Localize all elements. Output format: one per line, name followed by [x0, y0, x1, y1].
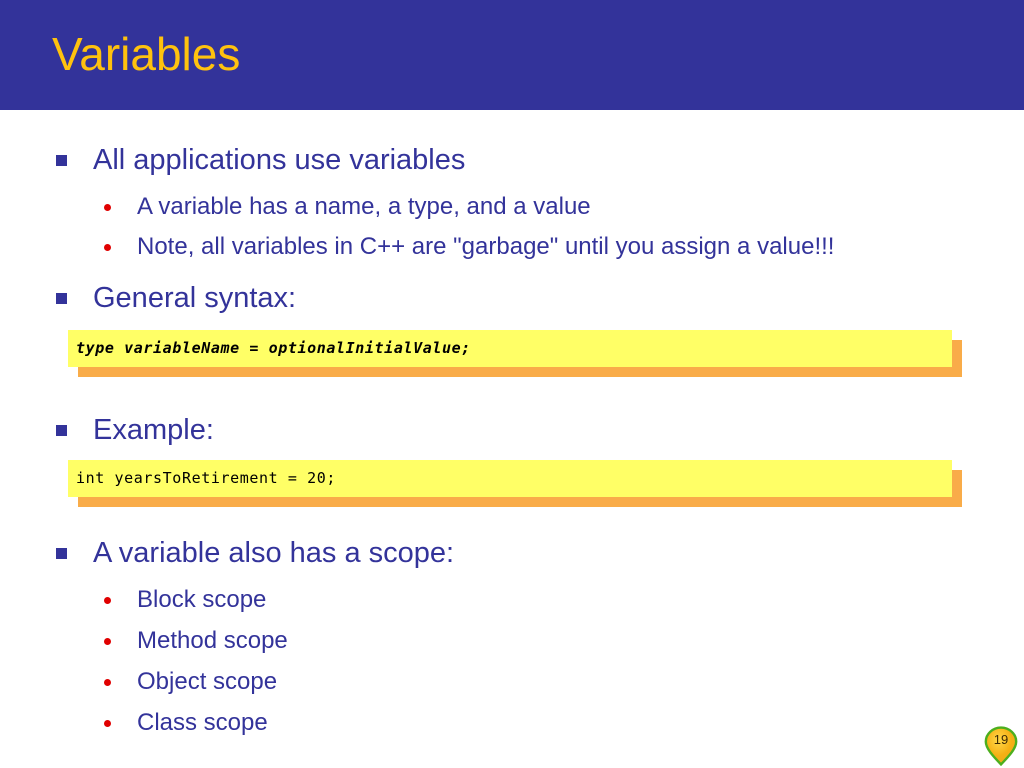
round-bullet-icon [104, 720, 111, 727]
bullet-label: A variable has a name, a type, and a val… [137, 192, 591, 222]
code-box-surface: type variableName = optionalInitialValue… [68, 330, 952, 367]
code-text: type variableName = optionalInitialValue… [76, 338, 471, 358]
bullet-label: Class scope [137, 708, 268, 738]
square-bullet-icon [56, 425, 67, 436]
bullet-label: General syntax: [93, 280, 296, 316]
bullet-class-scope: Class scope [104, 708, 1004, 738]
bullet-label: All applications use variables [93, 142, 465, 178]
round-bullet-icon [104, 244, 111, 251]
bullet-block-scope: Block scope [104, 585, 1004, 615]
round-bullet-icon [104, 679, 111, 686]
bullet-method-scope: Method scope [104, 626, 1004, 656]
square-bullet-icon [56, 548, 67, 559]
round-bullet-icon [104, 638, 111, 645]
bullet-object-scope: Object scope [104, 667, 1004, 697]
round-bullet-icon [104, 204, 111, 211]
bullet-label: A variable also has a scope: [93, 535, 454, 571]
page-number-badge: 19 [984, 726, 1018, 766]
bullet-label: Method scope [137, 626, 288, 656]
bullet-label: Block scope [137, 585, 266, 615]
bullet-label: Object scope [137, 667, 277, 697]
bullet-scope: A variable also has a scope: [56, 535, 996, 571]
page-title: Variables [52, 26, 240, 82]
round-bullet-icon [104, 597, 111, 604]
bullet-all-applications: All applications use variables [56, 142, 996, 178]
square-bullet-icon [56, 155, 67, 166]
bullet-garbage-note: Note, all variables in C++ are "garbage"… [104, 232, 1004, 262]
code-text: int yearsToRetirement = 20; [76, 468, 336, 488]
code-box-surface: int yearsToRetirement = 20; [68, 460, 952, 497]
syntax-code-box: type variableName = optionalInitialValue… [68, 330, 962, 377]
slide-title-bar: Variables [0, 0, 1024, 110]
example-code-box: int yearsToRetirement = 20; [68, 460, 962, 507]
slide-body: All applications use variables A variabl… [0, 110, 1024, 768]
bullet-variable-has: A variable has a name, a type, and a val… [104, 192, 1004, 222]
page-number-label: 19 [984, 732, 1018, 747]
bullet-general-syntax: General syntax: [56, 280, 996, 316]
square-bullet-icon [56, 293, 67, 304]
bullet-label: Example: [93, 412, 214, 448]
bullet-label: Note, all variables in C++ are "garbage"… [137, 232, 834, 262]
bullet-example: Example: [56, 412, 996, 448]
